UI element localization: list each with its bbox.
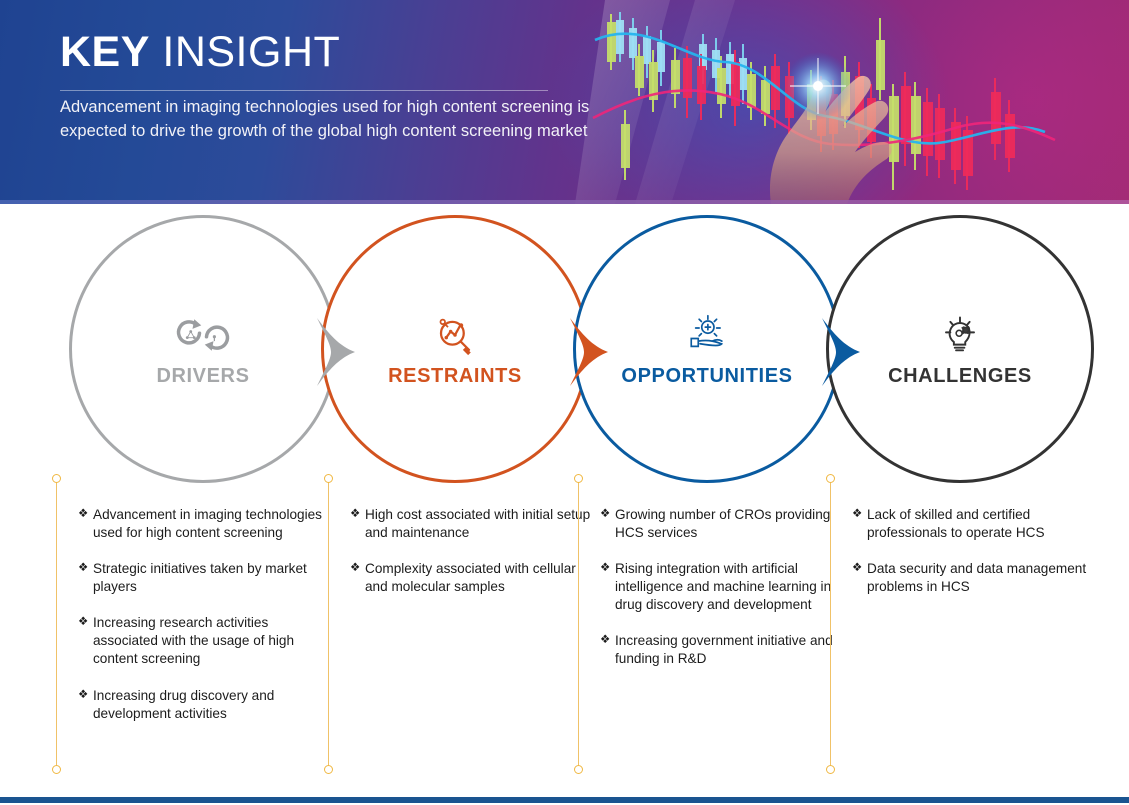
bullet-glyph-icon: ❖: [78, 614, 93, 631]
list-item: ❖ Lack of skilled and certified professi…: [852, 506, 1098, 542]
rail-dot-top-restraints: [324, 474, 333, 483]
rail-dot-bottom-opportunities: [574, 765, 583, 774]
bullet-glyph-icon: ❖: [852, 506, 867, 523]
stock-chart-graphic: [575, 0, 1129, 204]
title-bold-word: KEY: [60, 28, 150, 76]
arrow-restraints-to-opportunities: [568, 316, 620, 388]
rail-dot-bottom-restraints: [324, 765, 333, 774]
rail-dot-top-drivers: [52, 474, 61, 483]
bullet-glyph-icon: ❖: [852, 560, 867, 577]
bullet-text: Lack of skilled and certified profession…: [867, 506, 1098, 542]
list-item: ❖ Strategic initiatives taken by market …: [78, 560, 324, 596]
bullet-text: Strategic initiatives taken by market pl…: [93, 560, 324, 596]
bullet-text: Increasing government initiative and fun…: [615, 632, 846, 668]
list-item: ❖ Advancement in imaging technologies us…: [78, 506, 324, 542]
magnifier-analytics-icon: [427, 311, 483, 359]
bullet-text: High cost associated with initial setup …: [365, 506, 596, 542]
bullet-text: Complexity associated with cellular and …: [365, 560, 596, 596]
list-item: ❖ Complexity associated with cellular an…: [350, 560, 596, 596]
stage-label-opportunities: OPPORTUNITIES: [621, 365, 792, 388]
bullet-glyph-icon: ❖: [350, 506, 365, 523]
header-banner: KEY INSIGHT Advancement in imaging techn…: [0, 0, 1129, 204]
stage-circle-drivers[interactable]: DRIVERS: [69, 215, 337, 483]
column-rail-challenges: [830, 478, 831, 770]
arrow-opportunities-to-challenges: [820, 316, 872, 388]
page-title: KEY INSIGHT: [60, 30, 340, 75]
list-item: ❖ Increasing research activities associa…: [78, 614, 324, 668]
bullet-text: Growing number of CROs providing HCS ser…: [615, 506, 846, 542]
bullet-columns: ❖ Advancement in imaging technologies us…: [0, 478, 1129, 778]
rail-dot-top-opportunities: [574, 474, 583, 483]
column-rail-opportunities: [578, 478, 579, 770]
bullet-text: Data security and data management proble…: [867, 560, 1098, 596]
list-item: ❖ Growing number of CROs providing HCS s…: [600, 506, 846, 542]
rail-dot-bottom-drivers: [52, 765, 61, 774]
title-light-word: INSIGHT: [162, 28, 340, 76]
header-subtitle: Advancement in imaging technologies used…: [60, 96, 605, 144]
sync-arrows-icon: [175, 311, 231, 359]
bullet-glyph-icon: ❖: [78, 687, 93, 704]
bullet-text: Increasing drug discovery and developmen…: [93, 687, 324, 723]
bullet-glyph-icon: ❖: [600, 560, 615, 577]
bullet-glyph-icon: ❖: [78, 560, 93, 577]
title-divider: [60, 90, 548, 91]
list-item: ❖ Data security and data management prob…: [852, 560, 1098, 596]
bullet-glyph-icon: ❖: [350, 560, 365, 577]
list-item: ❖ Rising integration with artificial int…: [600, 560, 846, 614]
bullet-glyph-icon: ❖: [78, 506, 93, 523]
column-rail-drivers: [56, 478, 57, 770]
bullet-text: Increasing research activities associate…: [93, 614, 324, 668]
bullet-glyph-icon: ❖: [600, 506, 615, 523]
list-item: ❖ Increasing drug discovery and developm…: [78, 687, 324, 723]
stage-label-drivers: DRIVERS: [156, 365, 249, 388]
infographic-page: KEY INSIGHT Advancement in imaging techn…: [0, 0, 1129, 805]
rail-dot-top-challenges: [826, 474, 835, 483]
hand-holding-lightbulb-icon: [679, 311, 735, 359]
stage-label-challenges: CHALLENGES: [888, 365, 1032, 388]
bullet-glyph-icon: ❖: [600, 632, 615, 649]
list-item: ❖ Increasing government initiative and f…: [600, 632, 846, 668]
list-item: ❖ High cost associated with initial setu…: [350, 506, 596, 542]
bullet-text: Advancement in imaging technologies used…: [93, 506, 324, 542]
stage-circles-row: DRIVERS: [0, 204, 1129, 484]
footer-accent-bar: [0, 797, 1129, 803]
column-rail-restraints: [328, 478, 329, 770]
arrow-drivers-to-restraints: [315, 316, 367, 388]
stage-label-restraints: RESTRAINTS: [388, 365, 522, 388]
rail-dot-bottom-challenges: [826, 765, 835, 774]
bullet-text: Rising integration with artificial intel…: [615, 560, 846, 614]
lightbulb-gear-icon: [932, 311, 988, 359]
